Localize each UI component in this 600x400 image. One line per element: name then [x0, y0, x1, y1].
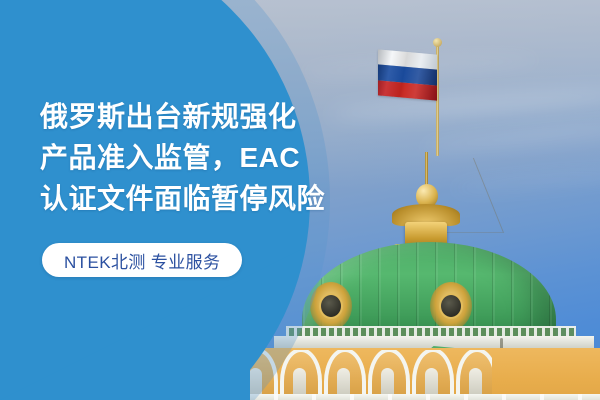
- brand-badge-label: NTEK北测 专业服务: [64, 248, 220, 273]
- headline: 俄罗斯出台新规强化 产品准入监管，EAC 认证文件面临暂停风险: [40, 96, 310, 219]
- headline-line-3: 认证文件面临暂停风险: [40, 178, 310, 219]
- promo-banner: 俄罗斯出台新规强化 产品准入监管，EAC 认证文件面临暂停风险 NTEK北测 专…: [0, 0, 600, 400]
- headline-line-2: 产品准入监管，EAC: [40, 137, 310, 178]
- banner-content: 俄罗斯出台新规强化 产品准入监管，EAC 认证文件面临暂停风险 NTEK北测 专…: [0, 0, 600, 400]
- brand-badge[interactable]: NTEK北测 专业服务: [42, 243, 242, 277]
- headline-line-1: 俄罗斯出台新规强化: [40, 96, 310, 137]
